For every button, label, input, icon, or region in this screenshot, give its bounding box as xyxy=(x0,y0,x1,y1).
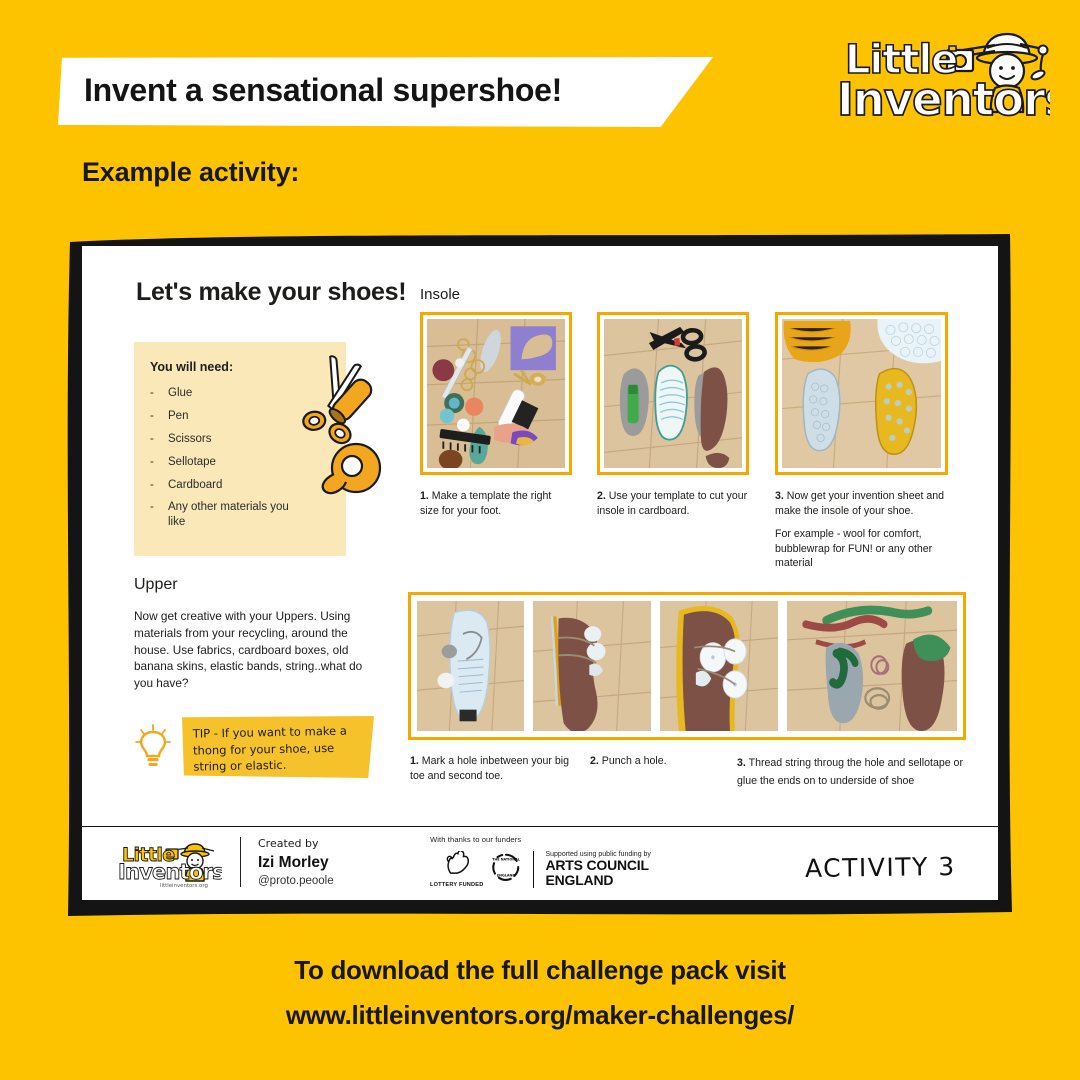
materials-heading: You will need: xyxy=(150,360,233,374)
insole-photo-3 xyxy=(775,312,948,475)
funders-vertical-rule xyxy=(533,851,534,888)
footer-divider xyxy=(240,837,241,887)
flip-flop-template-photo xyxy=(417,601,524,731)
lightbulb-icon xyxy=(134,724,172,770)
lottery-funded-caption: LOTTERY FUNDED xyxy=(430,882,483,888)
step-number: 3. xyxy=(775,490,784,502)
little-inventors-logo: Little Inventors xyxy=(835,18,1050,126)
bullet-dash: - xyxy=(150,455,168,469)
step-text: Now get your invention sheet and make th… xyxy=(775,490,944,517)
poster-title: Invent a sensational supershoe! xyxy=(58,72,562,113)
tip-note: TIP - If you want to make a thong for yo… xyxy=(182,716,374,778)
cta-url: www.littleinventors.org/maker-challenges… xyxy=(0,1000,1080,1031)
activity-sheet: Let's make your shoes! You will need: -G… xyxy=(82,246,998,900)
svg-text:Inventors: Inventors xyxy=(837,73,1050,126)
craft-supplies-illustration xyxy=(272,344,422,524)
upper-photo-strip xyxy=(408,592,966,740)
bullet-dash: - xyxy=(150,500,168,529)
tape-roll-icon xyxy=(323,444,380,493)
insole-template-cutting-photo xyxy=(604,319,742,468)
step-text: Make a template the right size for your … xyxy=(420,490,551,517)
finished-thong-shoe-photo xyxy=(787,601,957,731)
footer-brand-url: littleinventors.org xyxy=(160,883,208,889)
step-number: 1. xyxy=(420,490,429,502)
upper-body-text: Now get creative with your Uppers. Using… xyxy=(134,608,376,692)
foot-with-markers-photo xyxy=(660,601,778,731)
insole-photo-2 xyxy=(597,312,749,475)
step-number: 2. xyxy=(597,490,606,502)
sheet-title: Let's make your shoes! xyxy=(136,278,406,307)
activity-number: ACTIVITY 3 xyxy=(805,852,956,883)
funders-label: With thanks to our funders xyxy=(430,835,690,844)
insole-heading: Insole xyxy=(420,286,460,303)
step-text: Punch a hole. xyxy=(602,755,667,767)
national-lottery-ring-logo: THE NATIONAL ENGLAND xyxy=(490,851,522,888)
upper-caption-1: 1. Mark a hole inbetween your big toe an… xyxy=(410,754,578,783)
svg-text:THE NATIONAL: THE NATIONAL xyxy=(493,857,522,861)
insole-caption-2: 2. Use your template to cut your insole … xyxy=(597,489,757,518)
upper-caption-3: 3. Thread string throug the hole and sel… xyxy=(737,754,985,790)
step-text: Use your template to cut your insole in … xyxy=(597,490,747,517)
example-activity-label: Example activity: xyxy=(82,157,299,188)
title-banner: Invent a sensational supershoe! xyxy=(58,57,713,127)
activity-sheet-frame: Let's make your shoes! You will need: -G… xyxy=(62,228,1018,920)
insole-caption-3: 3. Now get your invention sheet and make… xyxy=(775,489,951,571)
created-by-label: Created by xyxy=(258,837,408,850)
funders-block: With thanks to our funders LOTTERY FUNDE… xyxy=(430,835,690,888)
bullet-dash: - xyxy=(150,432,168,446)
bullet-dash: - xyxy=(150,409,168,423)
step-number: 3. xyxy=(737,757,746,769)
svg-text:Inventors: Inventors xyxy=(118,860,222,884)
svg-text:ENGLAND: ENGLAND xyxy=(497,873,515,877)
upper-heading: Upper xyxy=(134,576,178,594)
bullet-dash: - xyxy=(150,386,168,400)
sheet-footer: Little Inventors littleinventors.org Cre… xyxy=(82,826,998,900)
creator-name: Izi Morley xyxy=(258,854,408,872)
cta-block: To download the full challenge pack visi… xyxy=(0,955,1080,1031)
bullet-dash: - xyxy=(150,478,168,492)
step-text: Mark a hole inbetween your big toe and s… xyxy=(410,755,569,782)
tip-text: TIP - If you want to make a thong for yo… xyxy=(181,714,374,776)
lottery-fingers-logo: LOTTERY FUNDED xyxy=(430,851,483,888)
arts-council-line2: ENGLAND xyxy=(545,873,650,888)
step-number: 1. xyxy=(410,755,419,767)
insole-caption-1: 1. Make a template the right size for yo… xyxy=(420,489,572,518)
step-extra-text: For example - wool for comfort, bubblewr… xyxy=(775,527,951,571)
arts-council-block: Supported using public funding by ARTS C… xyxy=(545,851,650,887)
arts-council-line1: ARTS COUNCIL xyxy=(545,858,650,873)
wool-and-bubblewrap-insoles-photo xyxy=(782,319,941,468)
step-text: Thread string throug the hole and sellot… xyxy=(737,757,963,787)
upper-caption-2: 2. Punch a hole. xyxy=(590,754,720,769)
footer-little-inventors-logo: Little Inventors littleinventors.org xyxy=(118,837,222,889)
cta-line-1: To download the full challenge pack visi… xyxy=(0,955,1080,986)
foot-side-view-photo xyxy=(533,601,651,731)
created-by-block: Created by Izi Morley @proto.peoole xyxy=(258,837,408,887)
creator-handle: @proto.peoole xyxy=(258,875,408,887)
insole-photo-1 xyxy=(420,312,572,475)
craft-materials-photo xyxy=(427,319,565,468)
step-number: 2. xyxy=(590,755,599,767)
